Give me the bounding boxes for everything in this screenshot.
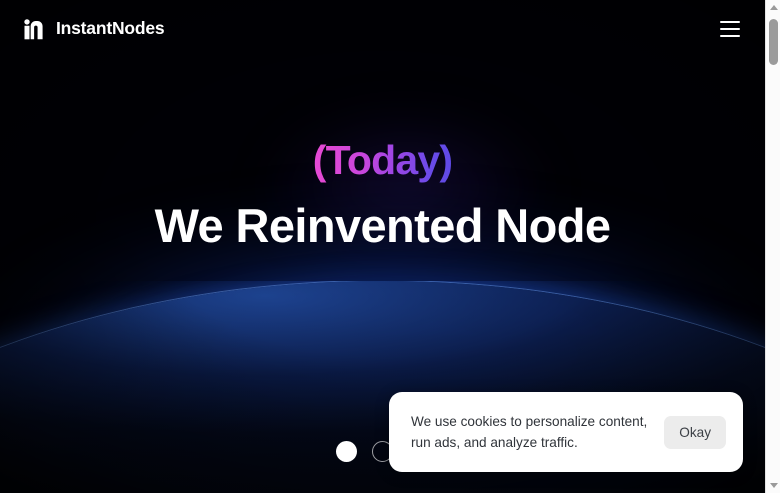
cookie-accept-button[interactable]: Okay	[664, 416, 726, 449]
hamburger-line-3	[720, 35, 740, 37]
carousel-dot-1[interactable]	[336, 441, 357, 462]
page-canvas: InstantNodes (Today) We Reinvented Node …	[0, 0, 765, 493]
hamburger-menu-icon[interactable]	[713, 12, 747, 46]
cookie-consent-banner: We use cookies to personalize content, r…	[389, 392, 743, 472]
scrollbar-thumb[interactable]	[769, 19, 778, 65]
brand-name: InstantNodes	[56, 20, 164, 38]
hamburger-line-2	[720, 28, 740, 30]
cookie-consent-message: We use cookies to personalize content, r…	[411, 411, 651, 453]
browser-viewport: InstantNodes (Today) We Reinvented Node …	[0, 0, 780, 493]
vertical-scrollbar[interactable]	[765, 0, 780, 493]
page-title: We Reinvented Node	[0, 200, 765, 252]
scroll-up-arrow-icon[interactable]	[766, 0, 780, 15]
instantnodes-n-mark-icon	[22, 17, 47, 42]
scroll-down-arrow-icon[interactable]	[766, 478, 780, 493]
brand-logo-link[interactable]: InstantNodes	[22, 17, 164, 42]
hamburger-line-1	[720, 21, 740, 23]
site-header: InstantNodes	[0, 0, 765, 58]
hero-copy: (Today) We Reinvented Node	[0, 138, 765, 252]
hero-eyebrow-wrap: (Today)	[0, 138, 765, 186]
hero-eyebrow: (Today)	[307, 138, 458, 186]
